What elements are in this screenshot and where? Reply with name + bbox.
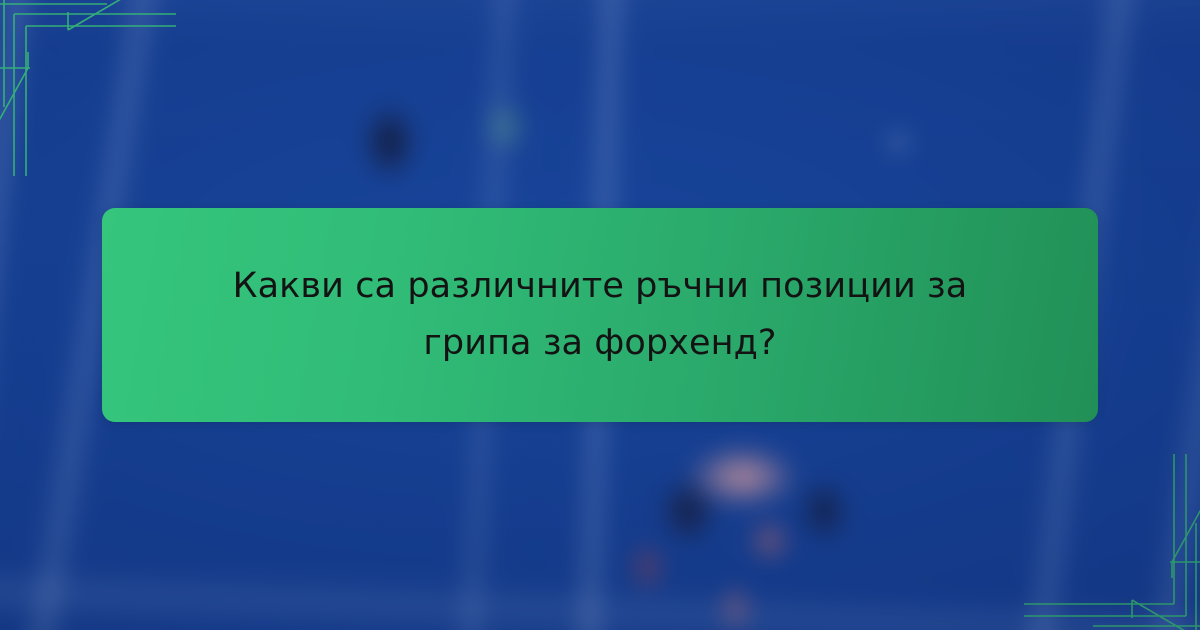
- question-banner-content: Какви са различните ръчни позиции за гри…: [220, 258, 980, 371]
- question-headline: Какви са различните ръчни позиции за гри…: [220, 258, 980, 371]
- question-banner: Какви са различните ръчни позиции за гри…: [102, 208, 1098, 422]
- screenshot-canvas: Какви са различните ръчни позиции за гри…: [0, 0, 1200, 630]
